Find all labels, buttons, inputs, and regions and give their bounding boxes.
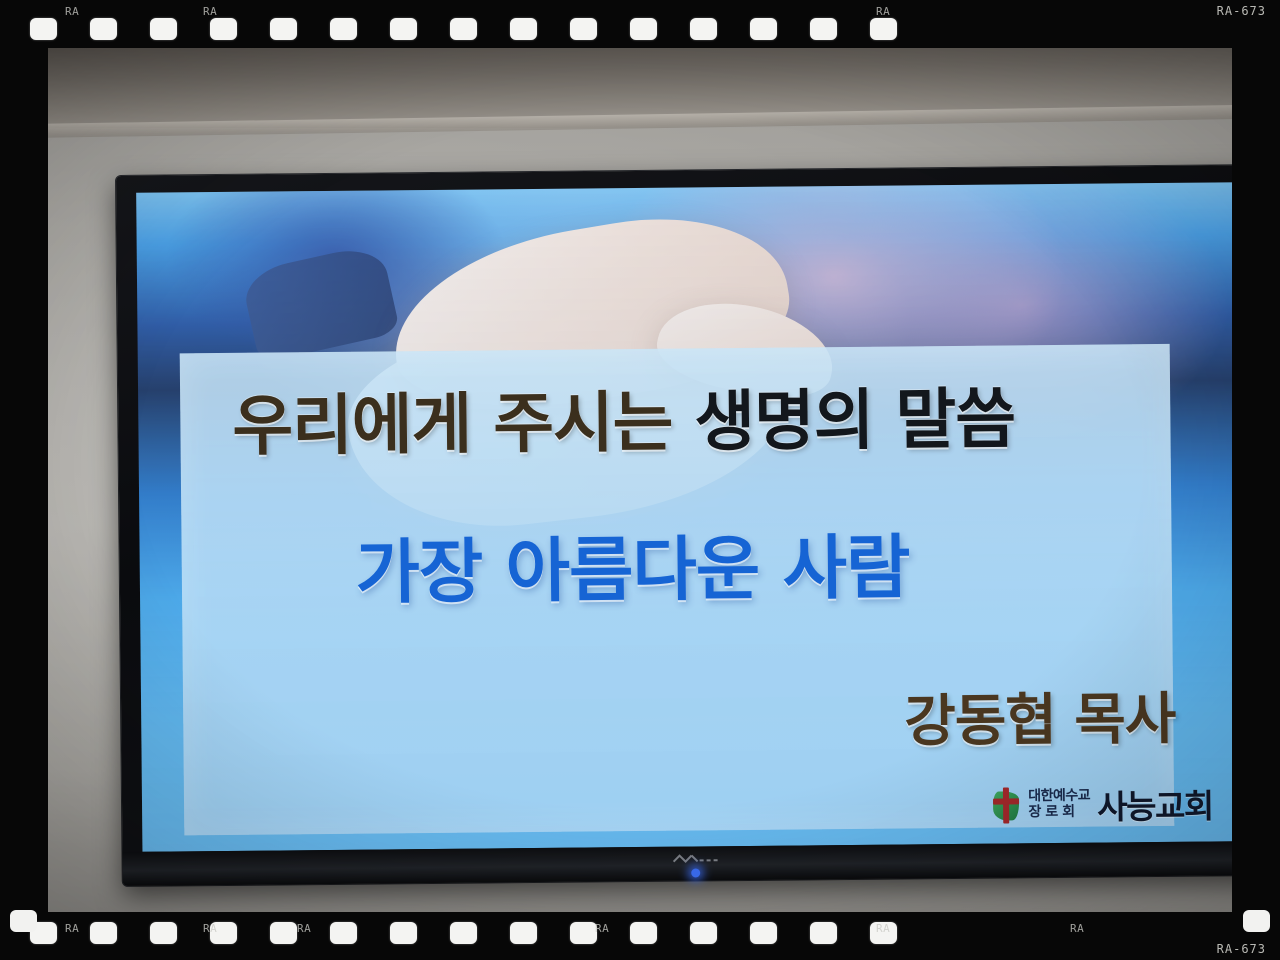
sprocket-hole [570,18,597,40]
sprocket-hole [810,18,837,40]
film-edge-mark: RA [297,922,311,935]
vaio-logo-icon [672,853,718,864]
sprocket-hole [750,922,777,944]
sprocket-hole [870,18,897,40]
sprocket-hole [150,18,177,40]
sprocket-hole [450,18,477,40]
slide-title-line-1-emphasis: 생명의 말씀 [694,381,1015,461]
denomination-line-1: 대한예수교 [1028,789,1090,805]
cross-icon [991,787,1021,823]
film-edge-mark: RA [876,5,890,18]
sprocket-hole [630,18,657,40]
film-strip-bottom [0,912,1280,960]
sprocket-hole [450,922,477,944]
sprocket-hole [10,910,37,932]
sprocket-hole [570,922,597,944]
room-background: 우리에게 주시는 생명의 말씀 가장 아름다운 사람 강동협 목사 대한예수교 … [28,28,1252,932]
sprocket-hole [690,922,717,944]
wall-mounted-television: 우리에게 주시는 생명의 말씀 가장 아름다운 사람 강동협 목사 대한예수교 … [116,165,1252,886]
film-edge-mark: RA [65,922,79,935]
film-frame-code: RA-673 [1217,4,1266,18]
sprocket-hole [750,18,777,40]
sprocket-hole [270,922,297,944]
sprocket-holes-top [0,0,1280,48]
film-photo-frame: 우리에게 주시는 생명의 말씀 가장 아름다운 사람 강동협 목사 대한예수교 … [0,0,1280,960]
film-edge-mark: RA [595,922,609,935]
church-name: 사능교회 [1097,779,1213,828]
slide-title-line-1: 우리에게 주시는 생명의 말씀 [232,366,1015,470]
power-led-indicator [691,868,700,877]
film-frame-code: RA-673 [1217,942,1266,956]
slide-title-line-2: 가장 아름다운 사람 [355,512,910,618]
film-edge-mark: RA [1070,922,1084,935]
film-strip-left [0,0,48,960]
cross-vertical-bar [1003,787,1009,823]
slide-speaker-name: 강동협 목사 [904,674,1176,758]
sprocket-hole [270,18,297,40]
film-edge-mark: RA [65,5,79,18]
sprocket-hole [210,18,237,40]
presentation-slide: 우리에게 주시는 생명의 말씀 가장 아름다운 사람 강동협 목사 대한예수교 … [136,182,1248,852]
tv-screen: 우리에게 주시는 생명의 말씀 가장 아름다운 사람 강동협 목사 대한예수교 … [136,182,1248,852]
slide-title-line-1-lead: 우리에게 주시는 [232,384,695,465]
film-strip-right [1232,0,1280,960]
sprocket-hole [390,18,417,40]
sprocket-hole [150,922,177,944]
film-edge-mark: RA [876,922,890,935]
sprocket-hole [30,18,57,40]
cross-horizontal-bar [993,798,1019,804]
sprocket-hole [90,18,117,40]
sprocket-hole [810,922,837,944]
sprocket-hole [630,922,657,944]
sprocket-hole [330,18,357,40]
sprocket-hole [510,922,537,944]
sprocket-holes-bottom [0,912,1280,960]
denomination-line-2: 장로회 [1028,804,1090,820]
sprocket-hole [510,18,537,40]
sprocket-hole [1243,910,1270,932]
sprocket-hole [690,18,717,40]
film-strip-top [0,0,1280,48]
film-edge-mark: RA [203,5,217,18]
sprocket-hole [90,922,117,944]
denomination-text: 대한예수교 장로회 [1028,789,1090,820]
sprocket-hole [390,922,417,944]
church-logo: 대한예수교 장로회 사능교회 [991,779,1213,829]
film-edge-mark: RA [203,922,217,935]
sprocket-hole [330,922,357,944]
